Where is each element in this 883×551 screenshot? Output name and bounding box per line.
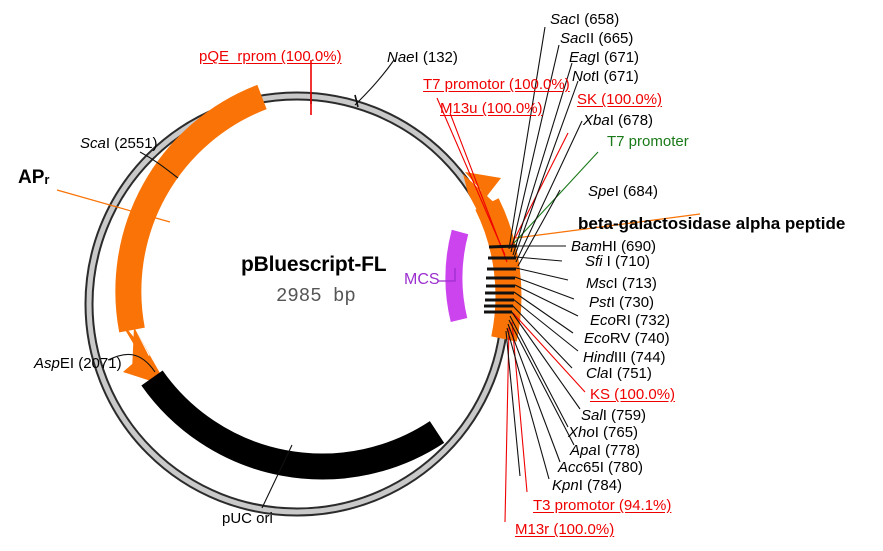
feature-puc-ori-arc — [152, 378, 437, 467]
label-ecorl: EcoRI (732) — [590, 313, 670, 328]
label-acc65l-rest: 65I (780) — [583, 459, 643, 476]
label-kpnl-rest: I (784) — [579, 477, 622, 494]
leader-nael — [355, 60, 394, 105]
label-ecorv: EcoRV (740) — [584, 331, 670, 346]
label-apr-text: AP — [18, 167, 44, 188]
label-apr-superscript: r — [44, 172, 49, 187]
label-eagl: EagI (671) — [569, 50, 639, 65]
label-clal-enzyme: Cla — [586, 365, 609, 382]
label-nael-rest: I (132) — [415, 49, 458, 66]
plasmid-map: pQE_rprom (100.0%) NaeI (132) T7 promoto… — [0, 0, 883, 551]
label-bamhl: BamHI (690) — [571, 239, 656, 254]
label-mcs: MCS — [404, 272, 440, 288]
label-nael: NaeI (132) — [387, 50, 458, 65]
label-sfil-enzyme: Sfi — [585, 253, 603, 270]
feature-betagal-arrow — [463, 172, 508, 339]
label-m13u: M13u (100.0%) — [440, 101, 543, 116]
label-sall-rest: I (759) — [603, 407, 646, 424]
label-pstl-rest: I (730) — [611, 294, 654, 311]
label-mscl-enzyme: Msc — [586, 275, 614, 292]
label-m13r: M13r (100.0%) — [515, 522, 614, 537]
label-ecorv-rest: RV (740) — [610, 330, 670, 347]
label-t3-promotor: T3 promotor (94.1%) — [533, 498, 671, 513]
label-sacl-rest: I (658) — [576, 11, 619, 28]
label-scal: ScaI (2551) — [80, 136, 158, 151]
label-clal-rest: I (751) — [609, 365, 652, 382]
label-spel: SpeI (684) — [588, 184, 658, 199]
label-apal-rest: I (778) — [597, 442, 640, 459]
plasmid-title: pBluescript-FL — [241, 254, 386, 275]
plasmid-size: 2985 bp — [276, 287, 356, 306]
label-clal: ClaI (751) — [586, 366, 652, 381]
label-xbal: XbaI (678) — [583, 113, 653, 128]
label-sall-enzyme: Sal — [581, 407, 603, 424]
label-xhol-enzyme: Xho — [568, 424, 595, 441]
label-t7-promotor: T7 promotor (100.0%) — [423, 77, 570, 92]
label-mscl: MscI (713) — [586, 276, 657, 291]
label-sacll-enzyme: Sac — [560, 30, 586, 47]
label-t7-promoter-green: T7 promoter — [607, 134, 689, 149]
label-ecorl-rest: RI (732) — [616, 312, 670, 329]
label-aspel-enzyme: Asp — [34, 355, 60, 372]
label-sacll-rest: II (665) — [586, 30, 634, 47]
label-notl-enzyme: Not — [572, 68, 595, 85]
label-sacll: SacII (665) — [560, 31, 633, 46]
label-eagl-rest: I (671) — [596, 49, 639, 66]
label-ks: KS (100.0%) — [590, 387, 675, 402]
label-acc65l: Acc65I (780) — [558, 460, 643, 475]
label-xhol-rest: I (765) — [595, 424, 638, 441]
label-pstl-enzyme: Pst — [589, 294, 611, 311]
label-aspel: AspEI (2071) — [34, 356, 122, 371]
label-apal-enzyme: Apa — [570, 442, 597, 459]
label-aspel-rest: EI (2071) — [60, 355, 122, 372]
label-pqe-rprom: pQE_rprom (100.0%) — [199, 49, 342, 64]
label-acc65l-enzyme: Acc — [558, 459, 583, 476]
label-sacl-enzyme: Sac — [550, 11, 576, 28]
label-sall: SalI (759) — [581, 408, 646, 423]
label-nael-enzyme: Nae — [387, 49, 415, 66]
label-scal-enzyme: Sca — [80, 135, 106, 152]
label-spel-enzyme: Spe — [588, 183, 615, 200]
label-eagl-enzyme: Eag — [569, 49, 596, 66]
label-hindlll-enzyme: Hind — [583, 349, 614, 366]
label-ecorv-enzyme: Eco — [584, 330, 610, 347]
label-notl: NotI (671) — [572, 69, 639, 84]
label-spel-rest: I (684) — [615, 183, 658, 200]
label-ecorl-enzyme: Eco — [590, 312, 616, 329]
label-notl-rest: I (671) — [595, 68, 638, 85]
label-apr: APr — [18, 168, 49, 187]
label-xbal-enzyme: Xba — [583, 112, 610, 129]
label-sfil-rest: I (710) — [603, 253, 651, 270]
label-xhol: XhoI (765) — [568, 425, 638, 440]
label-scal-rest: I (2551) — [106, 135, 158, 152]
label-kpnl: KpnI (784) — [552, 478, 622, 493]
label-puc-ori: pUC ori — [222, 511, 273, 526]
label-xbal-rest: I (678) — [610, 112, 653, 129]
label-sfil: Sfi I (710) — [585, 254, 650, 269]
label-kpnl-enzyme: Kpn — [552, 477, 579, 494]
label-beta-galactosidase: beta-galactosidase alpha peptide — [578, 215, 845, 232]
label-mscl-rest: I (713) — [614, 275, 657, 292]
label-sacl: SacI (658) — [550, 12, 619, 27]
label-sk: SK (100.0%) — [577, 92, 662, 107]
label-hindlll: HindIII (744) — [583, 350, 666, 365]
label-pstl: PstI (730) — [589, 295, 654, 310]
label-hindlll-rest: III (744) — [614, 349, 666, 366]
label-apal: ApaI (778) — [570, 443, 640, 458]
